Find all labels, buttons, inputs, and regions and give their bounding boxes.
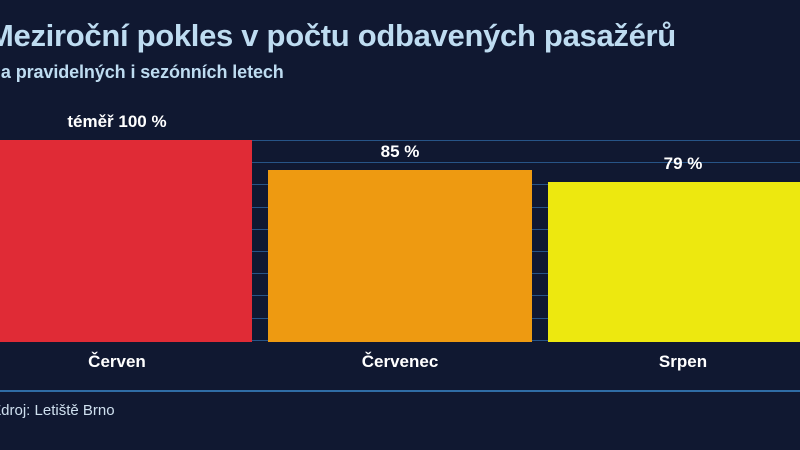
category-axis: ČervenČervenecSrpen — [0, 342, 800, 390]
axis-label-srpen: Srpen — [548, 352, 800, 372]
bar-group[interactable]: 79 % — [548, 96, 800, 342]
infographic-chart: Meziroční pokles v počtu odbavených pasa… — [0, 0, 800, 450]
bar-cerven[interactable] — [0, 140, 252, 342]
bar-value-label: 85 % — [268, 142, 532, 162]
bar-value-label: 79 % — [548, 154, 800, 174]
plot-area: téměř 100 %85 %79 % — [0, 96, 800, 342]
source-note: Zdroj: Letiště Brno — [0, 402, 115, 419]
bar-value-label: téměř 100 % — [0, 112, 252, 132]
chart-header: Meziroční pokles v počtu odbavených pasa… — [0, 0, 800, 96]
page-title: Meziroční pokles v počtu odbavených pasa… — [0, 20, 676, 53]
bar-srpen[interactable] — [548, 182, 800, 342]
bar-group[interactable]: 85 % — [268, 96, 532, 342]
bar-group[interactable]: téměř 100 % — [0, 96, 252, 342]
axis-label-cerven: Červen — [0, 352, 252, 372]
bar-cervenec[interactable] — [268, 170, 532, 342]
bar-series: téměř 100 %85 %79 % — [0, 96, 800, 342]
chart-subtitle: na pravidelných i sezónních letech — [0, 62, 284, 83]
footer-divider — [0, 390, 800, 392]
axis-label-cervenec: Červenec — [268, 352, 532, 372]
